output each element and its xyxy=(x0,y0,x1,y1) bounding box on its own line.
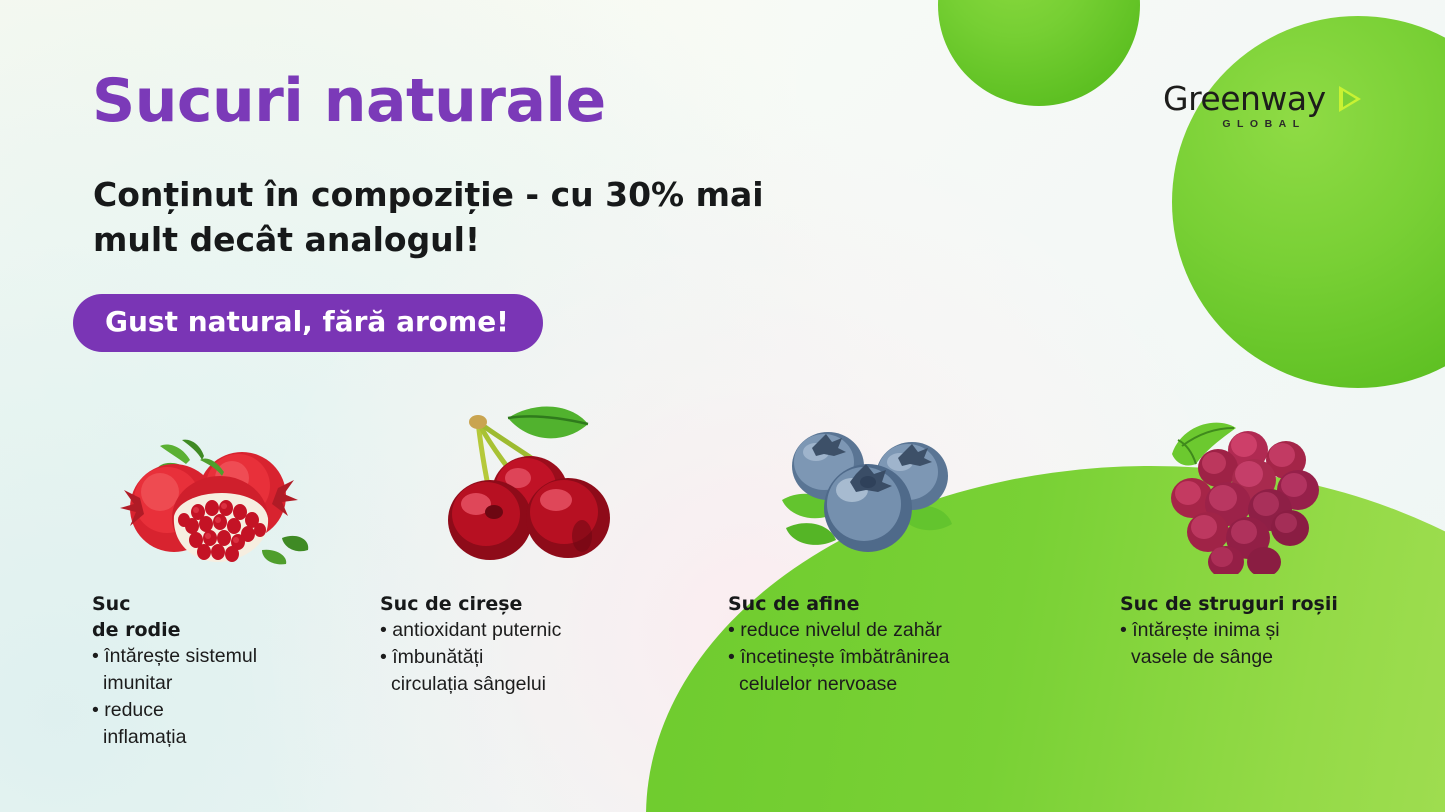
tagline-badge: Gust natural, fără arome! xyxy=(73,294,543,352)
logo-subtext: GLOBAL xyxy=(1163,118,1359,130)
cherries-image xyxy=(432,396,618,568)
benefit-item: reduce inflamația xyxy=(92,697,342,751)
product-benefits: antioxidant puternic îmbunătăți circulaț… xyxy=(380,617,660,698)
benefit-item: întărește inima și vasele de sânge xyxy=(1120,617,1420,671)
product-title: Suc de cireșe xyxy=(380,591,660,617)
red-grapes-image xyxy=(1152,416,1338,574)
product-title: Suc de struguri roșii xyxy=(1120,591,1420,617)
product-column-cherry: Suc de cireșe antioxidant puternic îmbun… xyxy=(380,591,660,698)
decorative-green-circle-small xyxy=(938,0,1140,106)
product-benefits: întărește inima și vasele de sânge xyxy=(1120,617,1420,671)
play-triangle-inner-icon xyxy=(1343,91,1356,107)
subtitle: Conținut în compoziție - cu 30% mai mult… xyxy=(93,172,853,262)
page-title: Sucuri naturale xyxy=(92,68,606,134)
benefit-item: antioxidant puternic xyxy=(380,617,660,644)
benefit-item: îmbunătăți circulația sângelui xyxy=(380,644,660,698)
product-column-pomegranate: Suc de rodie întărește sistemul imunitar… xyxy=(92,591,342,751)
product-title: Suc de rodie xyxy=(92,591,342,643)
decorative-green-circle-large xyxy=(1172,16,1445,388)
brand-logo: Greenway GLOBAL xyxy=(1163,82,1359,142)
logo-wordmark: Greenway xyxy=(1163,82,1359,116)
product-title: Suc de afine xyxy=(728,591,1028,617)
product-column-red-grapes: Suc de struguri roșii întărește inima și… xyxy=(1120,591,1420,671)
product-benefits: întărește sistemul imunitar reduce infla… xyxy=(92,643,342,751)
product-column-blueberry: Suc de afine reduce nivelul de zahăr înc… xyxy=(728,591,1028,698)
tagline-badge-label: Gust natural, fără arome! xyxy=(105,305,509,338)
benefit-item: încetinește îmbătrânirea celulelor nervo… xyxy=(728,644,1028,698)
benefit-item: reduce nivelul de zahăr xyxy=(728,617,1028,644)
promo-slide: Greenway GLOBAL Sucuri naturale Conținut… xyxy=(0,0,1445,812)
blueberries-image xyxy=(772,424,956,564)
benefit-item: întărește sistemul imunitar xyxy=(92,643,342,697)
product-benefits: reduce nivelul de zahăr încetinește îmbă… xyxy=(728,617,1028,698)
pomegranate-image xyxy=(112,416,316,576)
